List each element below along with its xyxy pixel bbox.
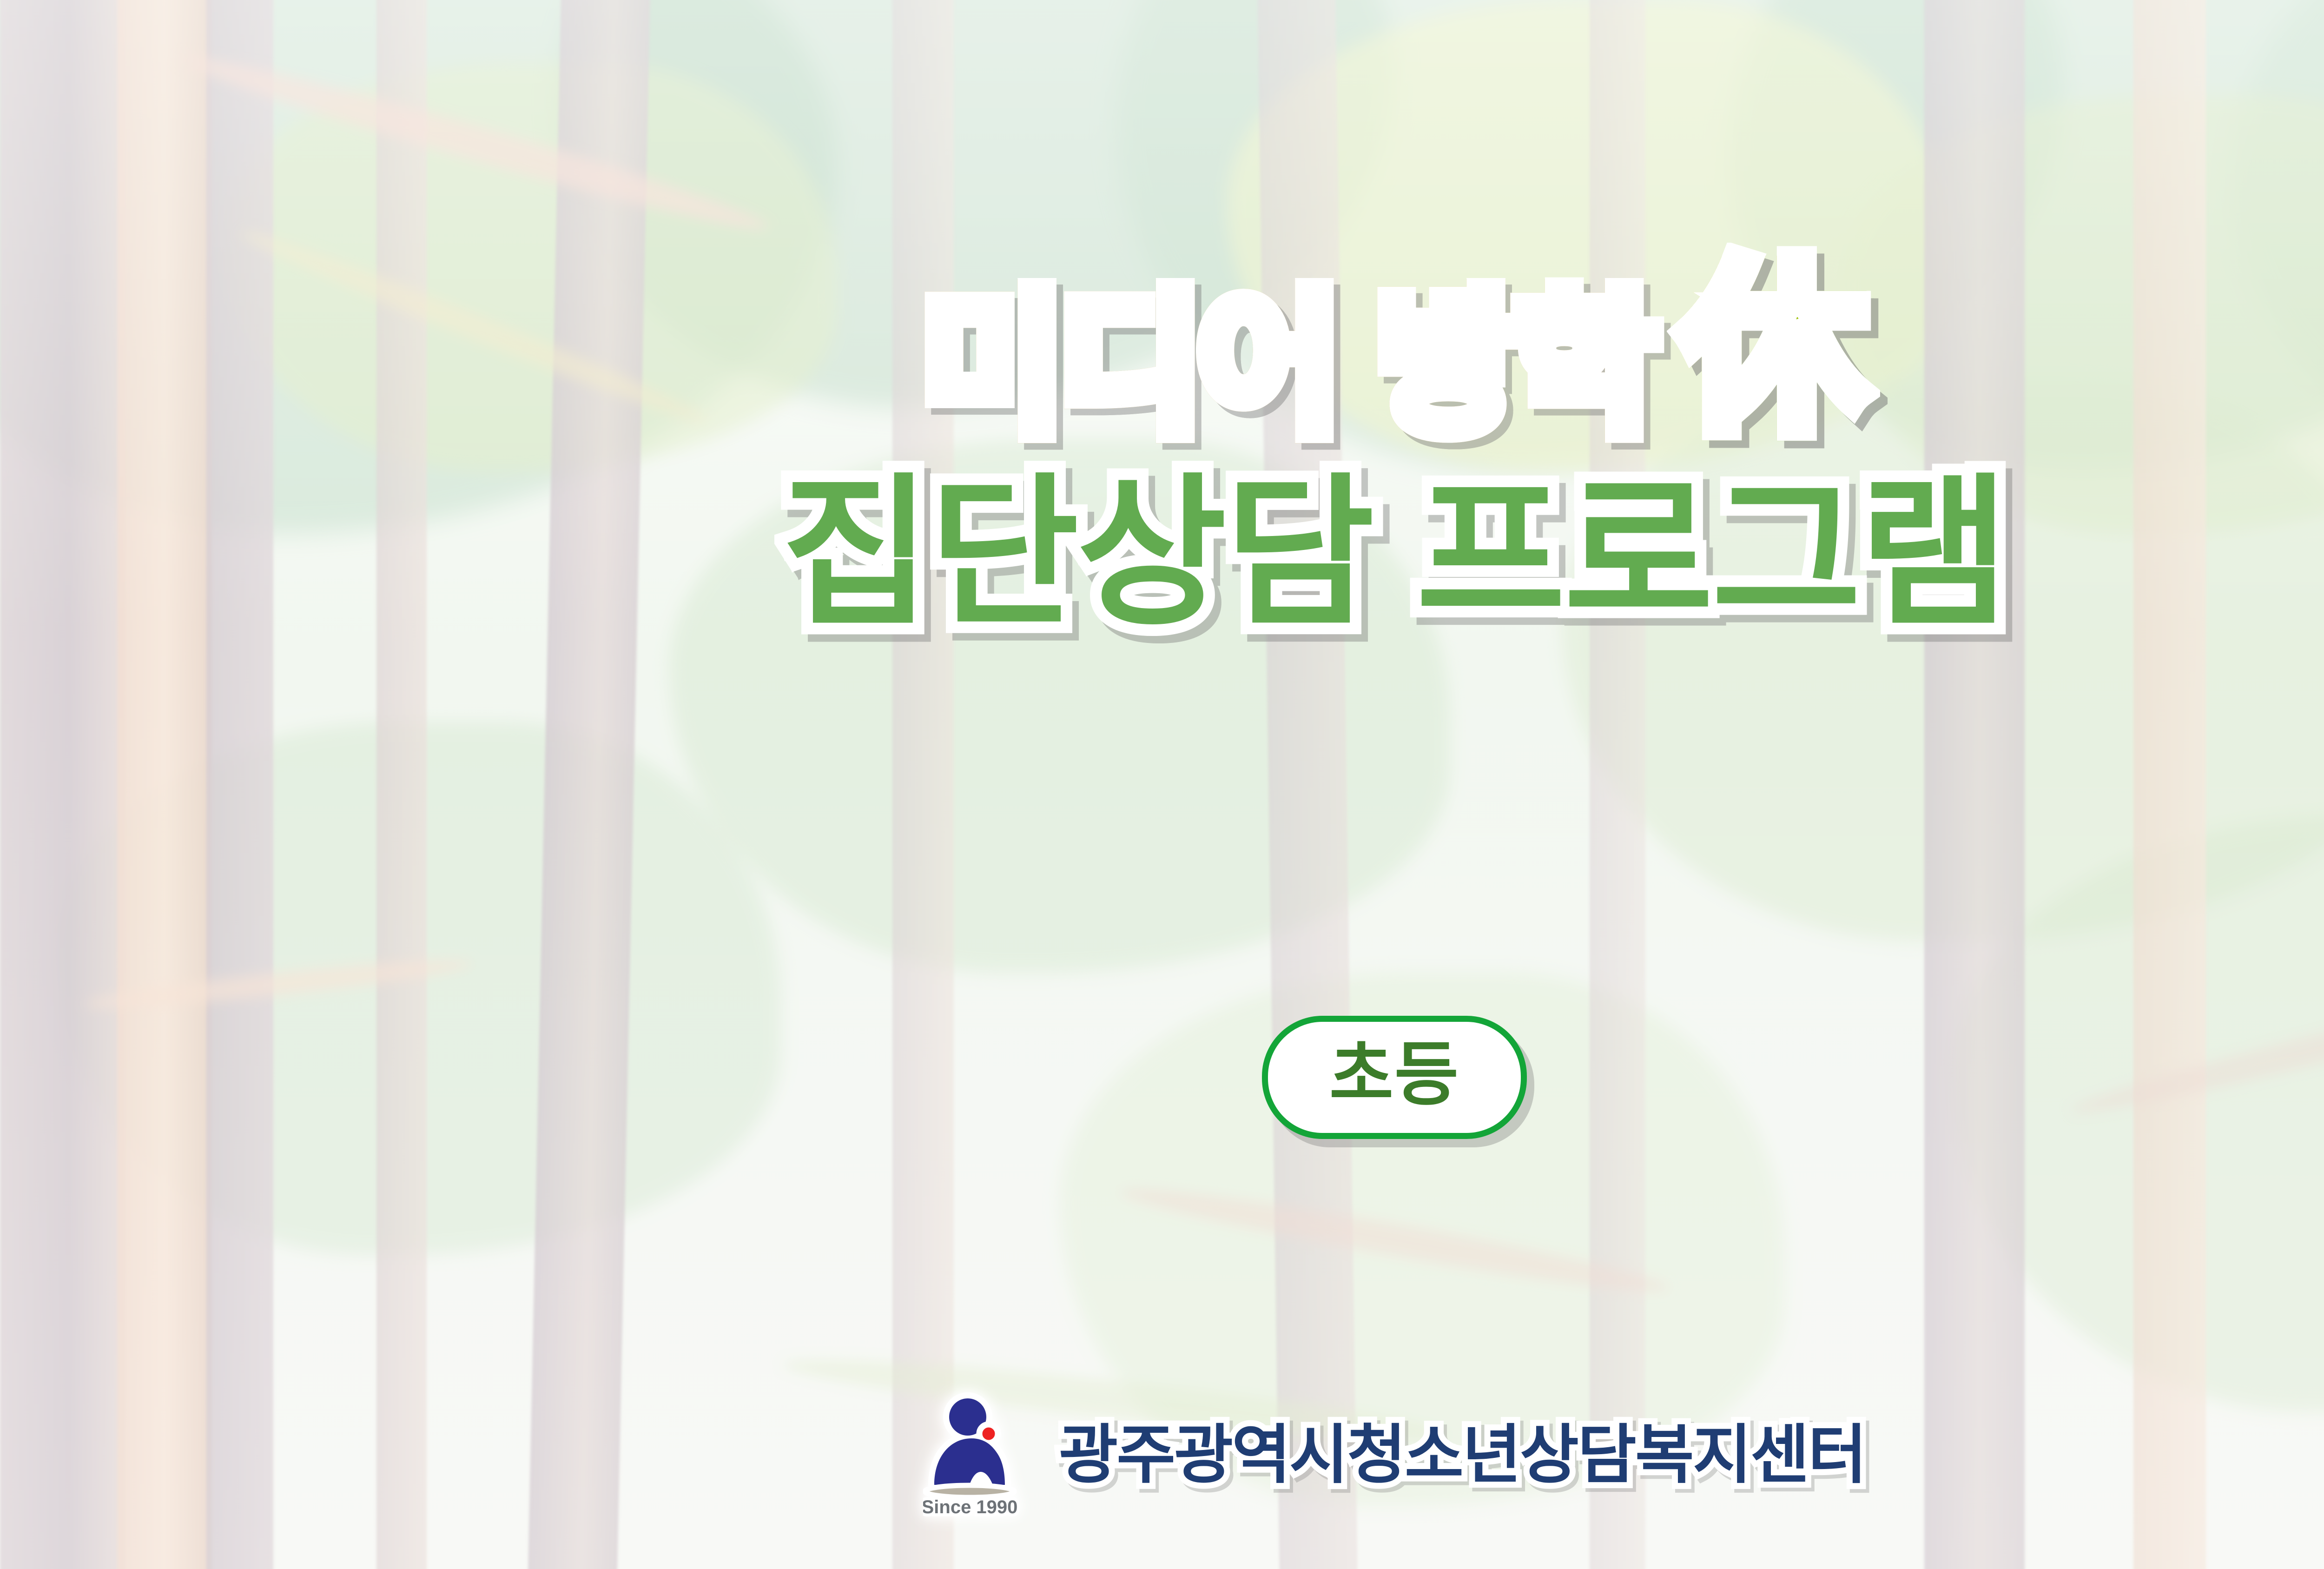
poster-headline: 미디어 방학 休 집단상담 프로그램 — [0, 279, 2324, 643]
center-emblem-icon: Since 1990 — [923, 1385, 1039, 1525]
headline-line-1: 미디어 방학 休 — [922, 279, 1867, 451]
headline-line-2: 집단상담 프로그램 — [781, 464, 2007, 643]
background-whitening-veil — [0, 0, 2324, 1569]
poster-canvas: 내 편이 필요한 순간 청소년 1 3 8 8 미디어 방학 休 집단상담 프로… — [0, 0, 2324, 1569]
emblem-base — [925, 1485, 1014, 1497]
background-forest-illustration — [0, 0, 2324, 1569]
grade-badge-elementary: 초등 — [1262, 1016, 1527, 1139]
headline-hanja-rest: 休 — [1681, 256, 1867, 442]
grade-badge-wrap: 초등 — [0, 1016, 2324, 1139]
organization-name: 광주광역시청소년상담복지센터 — [1059, 1423, 1865, 1487]
headline-media-vacation: 미디어 방학 — [922, 279, 1654, 451]
footer-organization: Since 1990 광주광역시청소년상담복지센터 — [0, 1385, 2324, 1525]
emblem-since-label: Since 1990 — [923, 1497, 1017, 1517]
